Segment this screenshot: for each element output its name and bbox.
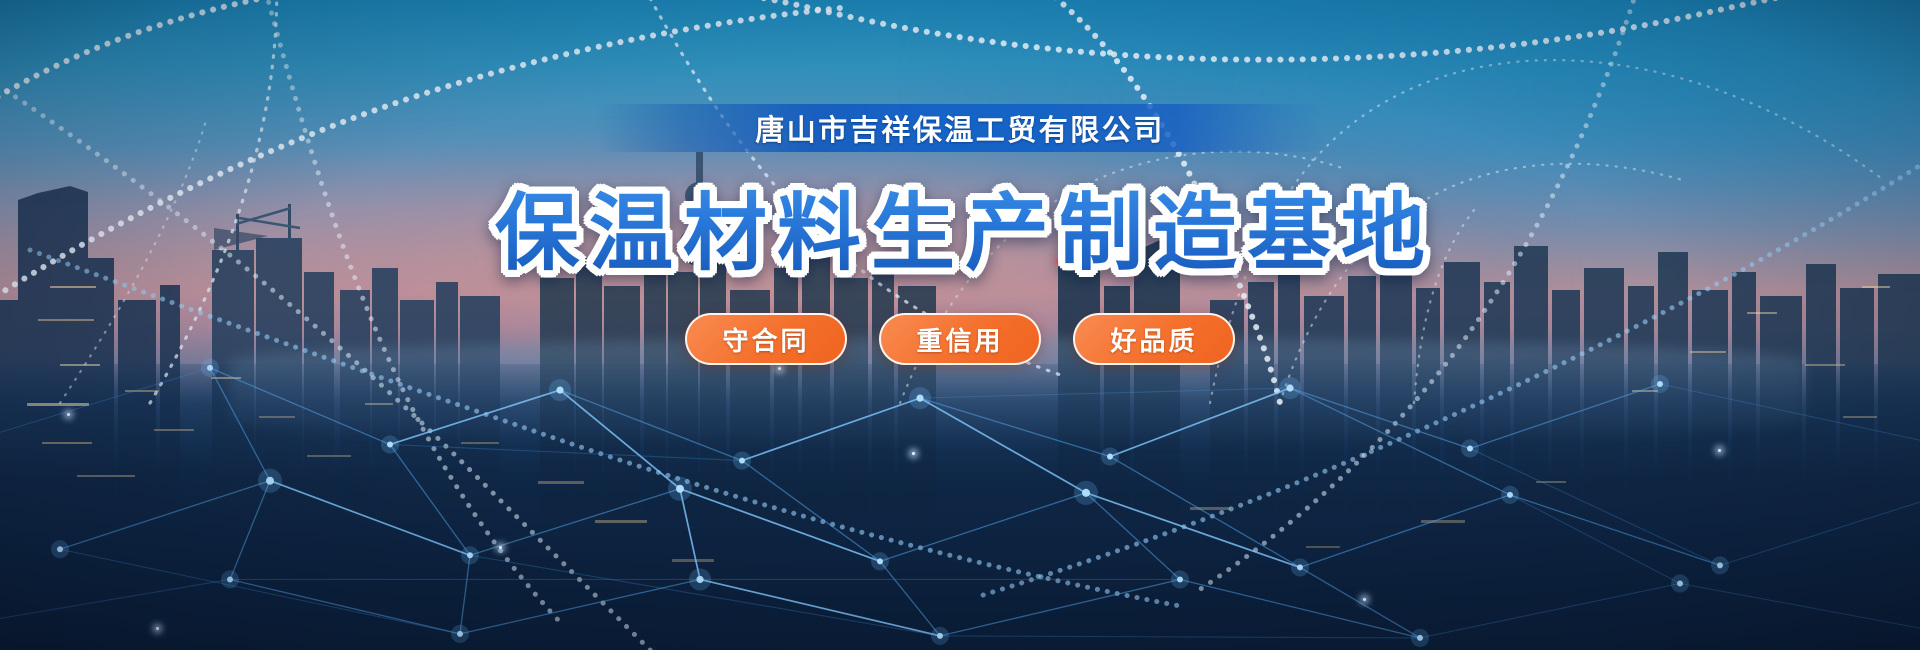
banner-content: 唐山市吉祥保温工贸有限公司 保温材料生产制造基地 守合同 重信用 好品质 — [0, 104, 1920, 365]
badge-hao-pin-zhi[interactable]: 好品质 — [1073, 313, 1235, 365]
badge-label: 好品质 — [1110, 321, 1197, 358]
badge-label: 守合同 — [722, 321, 809, 358]
badge-label: 重信用 — [916, 321, 1003, 358]
badge-zhong-xin-yong[interactable]: 重信用 — [879, 313, 1041, 365]
hero-banner: 唐山市吉祥保温工贸有限公司 保温材料生产制造基地 守合同 重信用 好品质 — [0, 0, 1920, 650]
feature-badges: 守合同 重信用 好品质 — [685, 313, 1235, 365]
badge-shou-he-tong[interactable]: 守合同 — [685, 313, 847, 365]
page-title: 保温材料生产制造基地 — [485, 166, 1435, 287]
company-name: 唐山市吉祥保温工贸有限公司 — [755, 107, 1165, 149]
company-name-ribbon: 唐山市吉祥保温工贸有限公司 — [596, 104, 1324, 152]
